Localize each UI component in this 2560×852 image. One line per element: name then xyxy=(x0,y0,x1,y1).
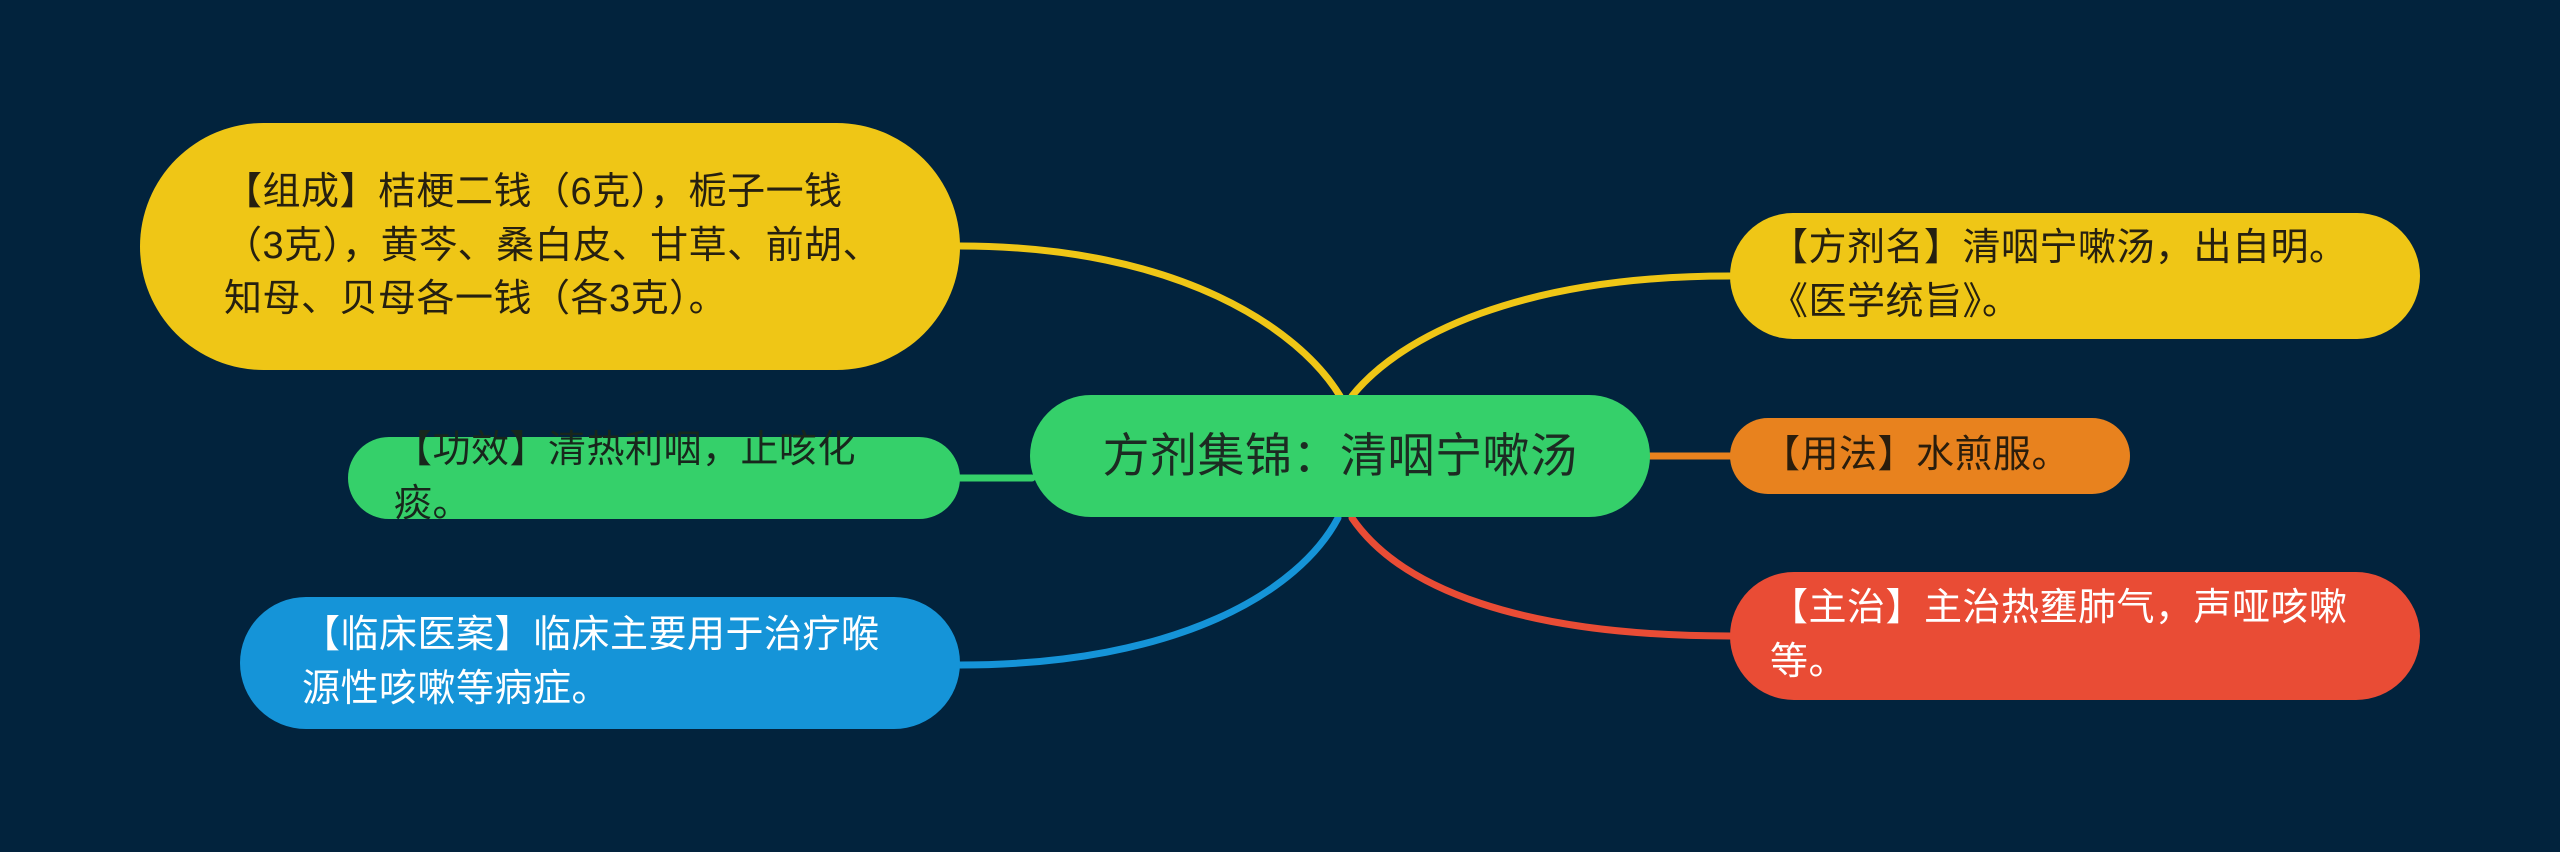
name-link xyxy=(1352,276,1730,396)
mind-map-canvas: 【组成】桔梗二钱（6克），栀子一钱（3克），黄芩、桑白皮、甘草、前胡、知母、贝母… xyxy=(0,0,2560,852)
branch-node-clinical-case[interactable]: 【临床医案】临床主要用于治疗喉源性咳嗽等病症。 xyxy=(240,597,960,729)
branch-label-usage: 【用法】水煎服。 xyxy=(1762,429,2098,483)
branch-label-effect: 【功效】清热利咽，止咳化痰。 xyxy=(394,424,914,532)
branch-label-formula-name: 【方剂名】清咽宁嗽汤，出自明。《医学统旨》。 xyxy=(1770,222,2386,330)
branch-label-composition: 【组成】桔梗二钱（6克），栀子一钱（3克），黄芩、桑白皮、甘草、前胡、知母、贝母… xyxy=(224,166,898,328)
branch-node-effect[interactable]: 【功效】清热利咽，止咳化痰。 xyxy=(348,437,960,519)
center-node[interactable]: 方剂集锦：清咽宁嗽汤 xyxy=(1030,395,1650,517)
branch-node-formula-name[interactable]: 【方剂名】清咽宁嗽汤，出自明。《医学统旨》。 xyxy=(1730,213,2420,339)
indication-link xyxy=(1352,518,1730,636)
composition-link xyxy=(960,246,1340,396)
branch-node-composition[interactable]: 【组成】桔梗二钱（6克），栀子一钱（3克），黄芩、桑白皮、甘草、前胡、知母、贝母… xyxy=(140,123,960,370)
branch-label-indication: 【主治】主治热壅肺气，声哑咳嗽等。 xyxy=(1770,582,2386,690)
branch-node-usage[interactable]: 【用法】水煎服。 xyxy=(1730,418,2130,494)
branch-label-clinical-case: 【临床医案】临床主要用于治疗喉源性咳嗽等病症。 xyxy=(302,609,916,717)
branch-node-indication[interactable]: 【主治】主治热壅肺气，声哑咳嗽等。 xyxy=(1730,572,2420,700)
center-node-label: 方剂集锦：清咽宁嗽汤 xyxy=(1056,423,1624,490)
case-link xyxy=(960,518,1338,665)
